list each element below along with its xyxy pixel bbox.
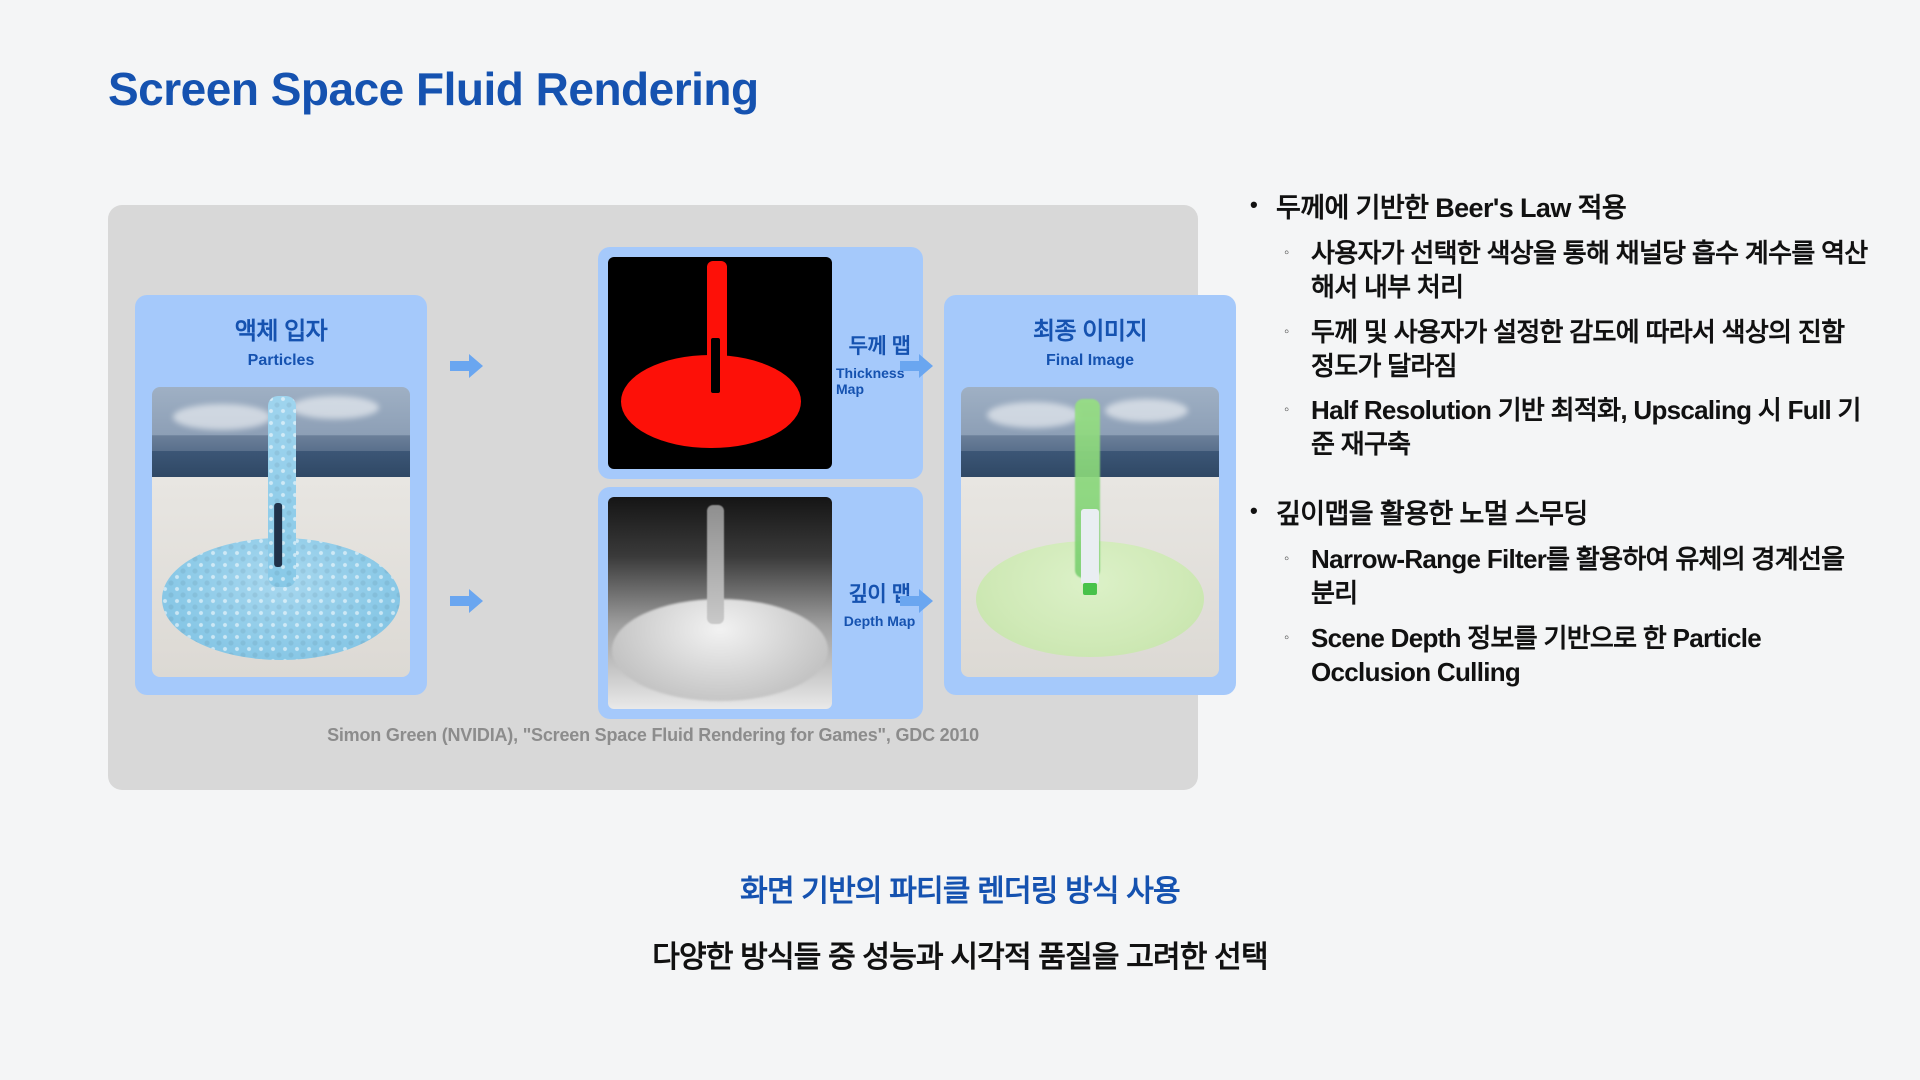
bullet-level1-label: 두께에 기반한 Beer's Law 적용 xyxy=(1276,190,1626,226)
arrow-right-icon xyxy=(898,350,936,382)
bullet-level2: ◦ 사용자가 선택한 색상을 통해 채널당 흡수 계수를 역산해서 내부 처리 xyxy=(1284,237,1870,305)
pipeline-diagram-panel: 액체 입자 Particles 두께 맵 T xyxy=(108,205,1198,790)
bullet-group: • 두께에 기반한 Beer's Law 적용 ◦ 사용자가 선택한 색상을 통… xyxy=(1250,190,1870,462)
bullet-level2-label: Half Resolution 기반 최적화, Upscaling 시 Full… xyxy=(1311,394,1870,462)
bullet-level2: ◦ 두께 및 사용자가 설정한 감도에 따라서 색상의 진함 정도가 달라짐 xyxy=(1284,316,1870,384)
bullet-level2: ◦ Narrow-Range Filter를 활용하여 유체의 경계선을 분리 xyxy=(1284,543,1870,611)
particles-thumbnail xyxy=(152,387,410,677)
bullet-level2: ◦ Scene Depth 정보를 기반으로 한 Particle Occlus… xyxy=(1284,622,1870,690)
bullet-level2-label: 사용자가 선택한 색상을 통해 채널당 흡수 계수를 역산해서 내부 처리 xyxy=(1311,237,1870,305)
bullet-marker-icon: ◦ xyxy=(1284,237,1311,269)
summary-block: 화면 기반의 파티클 렌더링 방식 사용 다양한 방식들 중 성능과 시각적 품… xyxy=(0,866,1920,976)
arrow-right-icon xyxy=(448,585,486,617)
thickness-map-thumbnail xyxy=(608,257,832,469)
bullet-level1-label: 깊이맵을 활용한 노멀 스무딩 xyxy=(1276,496,1588,532)
arrow-right-icon xyxy=(448,350,486,382)
bullet-level2-label: Narrow-Range Filter를 활용하여 유체의 경계선을 분리 xyxy=(1311,543,1870,611)
bullet-marker-icon: ◦ xyxy=(1284,543,1311,575)
diagram-citation: Simon Green (NVIDIA), "Screen Space Flui… xyxy=(108,725,1198,746)
bullet-level2-label: 두께 및 사용자가 설정한 감도에 따라서 색상의 진함 정도가 달라짐 xyxy=(1311,316,1870,384)
card-label-ko-final: 최종 이미지 xyxy=(1033,311,1147,346)
card-label-ko-particles: 액체 입자 xyxy=(235,311,328,346)
page-title: Screen Space Fluid Rendering xyxy=(108,62,759,116)
pipeline-card-thickness-map: 두께 맵 Thickness Map xyxy=(598,247,923,479)
card-label-en-final: Final Image xyxy=(1046,352,1134,370)
bullet-marker-icon: • xyxy=(1250,190,1276,219)
arrow-right-icon xyxy=(898,585,936,617)
bullet-group: • 깊이맵을 활용한 노멀 스무딩 ◦ Narrow-Range Filter를… xyxy=(1250,496,1870,689)
summary-line-secondary: 다양한 방식들 중 성능과 시각적 품질을 고려한 선택 xyxy=(0,932,1920,976)
bullet-list: • 두께에 기반한 Beer's Law 적용 ◦ 사용자가 선택한 색상을 통… xyxy=(1250,190,1870,689)
final-image-thumbnail xyxy=(961,387,1219,677)
card-label-en-particles: Particles xyxy=(248,352,315,370)
summary-line-primary: 화면 기반의 파티클 렌더링 방식 사용 xyxy=(0,866,1920,910)
bullet-marker-icon: ◦ xyxy=(1284,394,1311,426)
bullet-marker-icon: ◦ xyxy=(1284,316,1311,348)
bullet-level2: ◦ Half Resolution 기반 최적화, Upscaling 시 Fu… xyxy=(1284,394,1870,462)
bullet-level1: • 두께에 기반한 Beer's Law 적용 xyxy=(1250,190,1870,226)
bullet-marker-icon: ◦ xyxy=(1284,622,1311,654)
bullet-level1: • 깊이맵을 활용한 노멀 스무딩 xyxy=(1250,496,1870,532)
pipeline-card-final-image: 최종 이미지 Final Image xyxy=(944,295,1236,695)
bullet-level2-label: Scene Depth 정보를 기반으로 한 Particle Occlusio… xyxy=(1311,622,1870,690)
depth-map-thumbnail xyxy=(608,497,832,709)
bullet-marker-icon: • xyxy=(1250,496,1276,525)
pipeline-card-depth-map: 깊이 맵 Depth Map xyxy=(598,487,923,719)
pipeline-card-particles: 액체 입자 Particles xyxy=(135,295,427,695)
